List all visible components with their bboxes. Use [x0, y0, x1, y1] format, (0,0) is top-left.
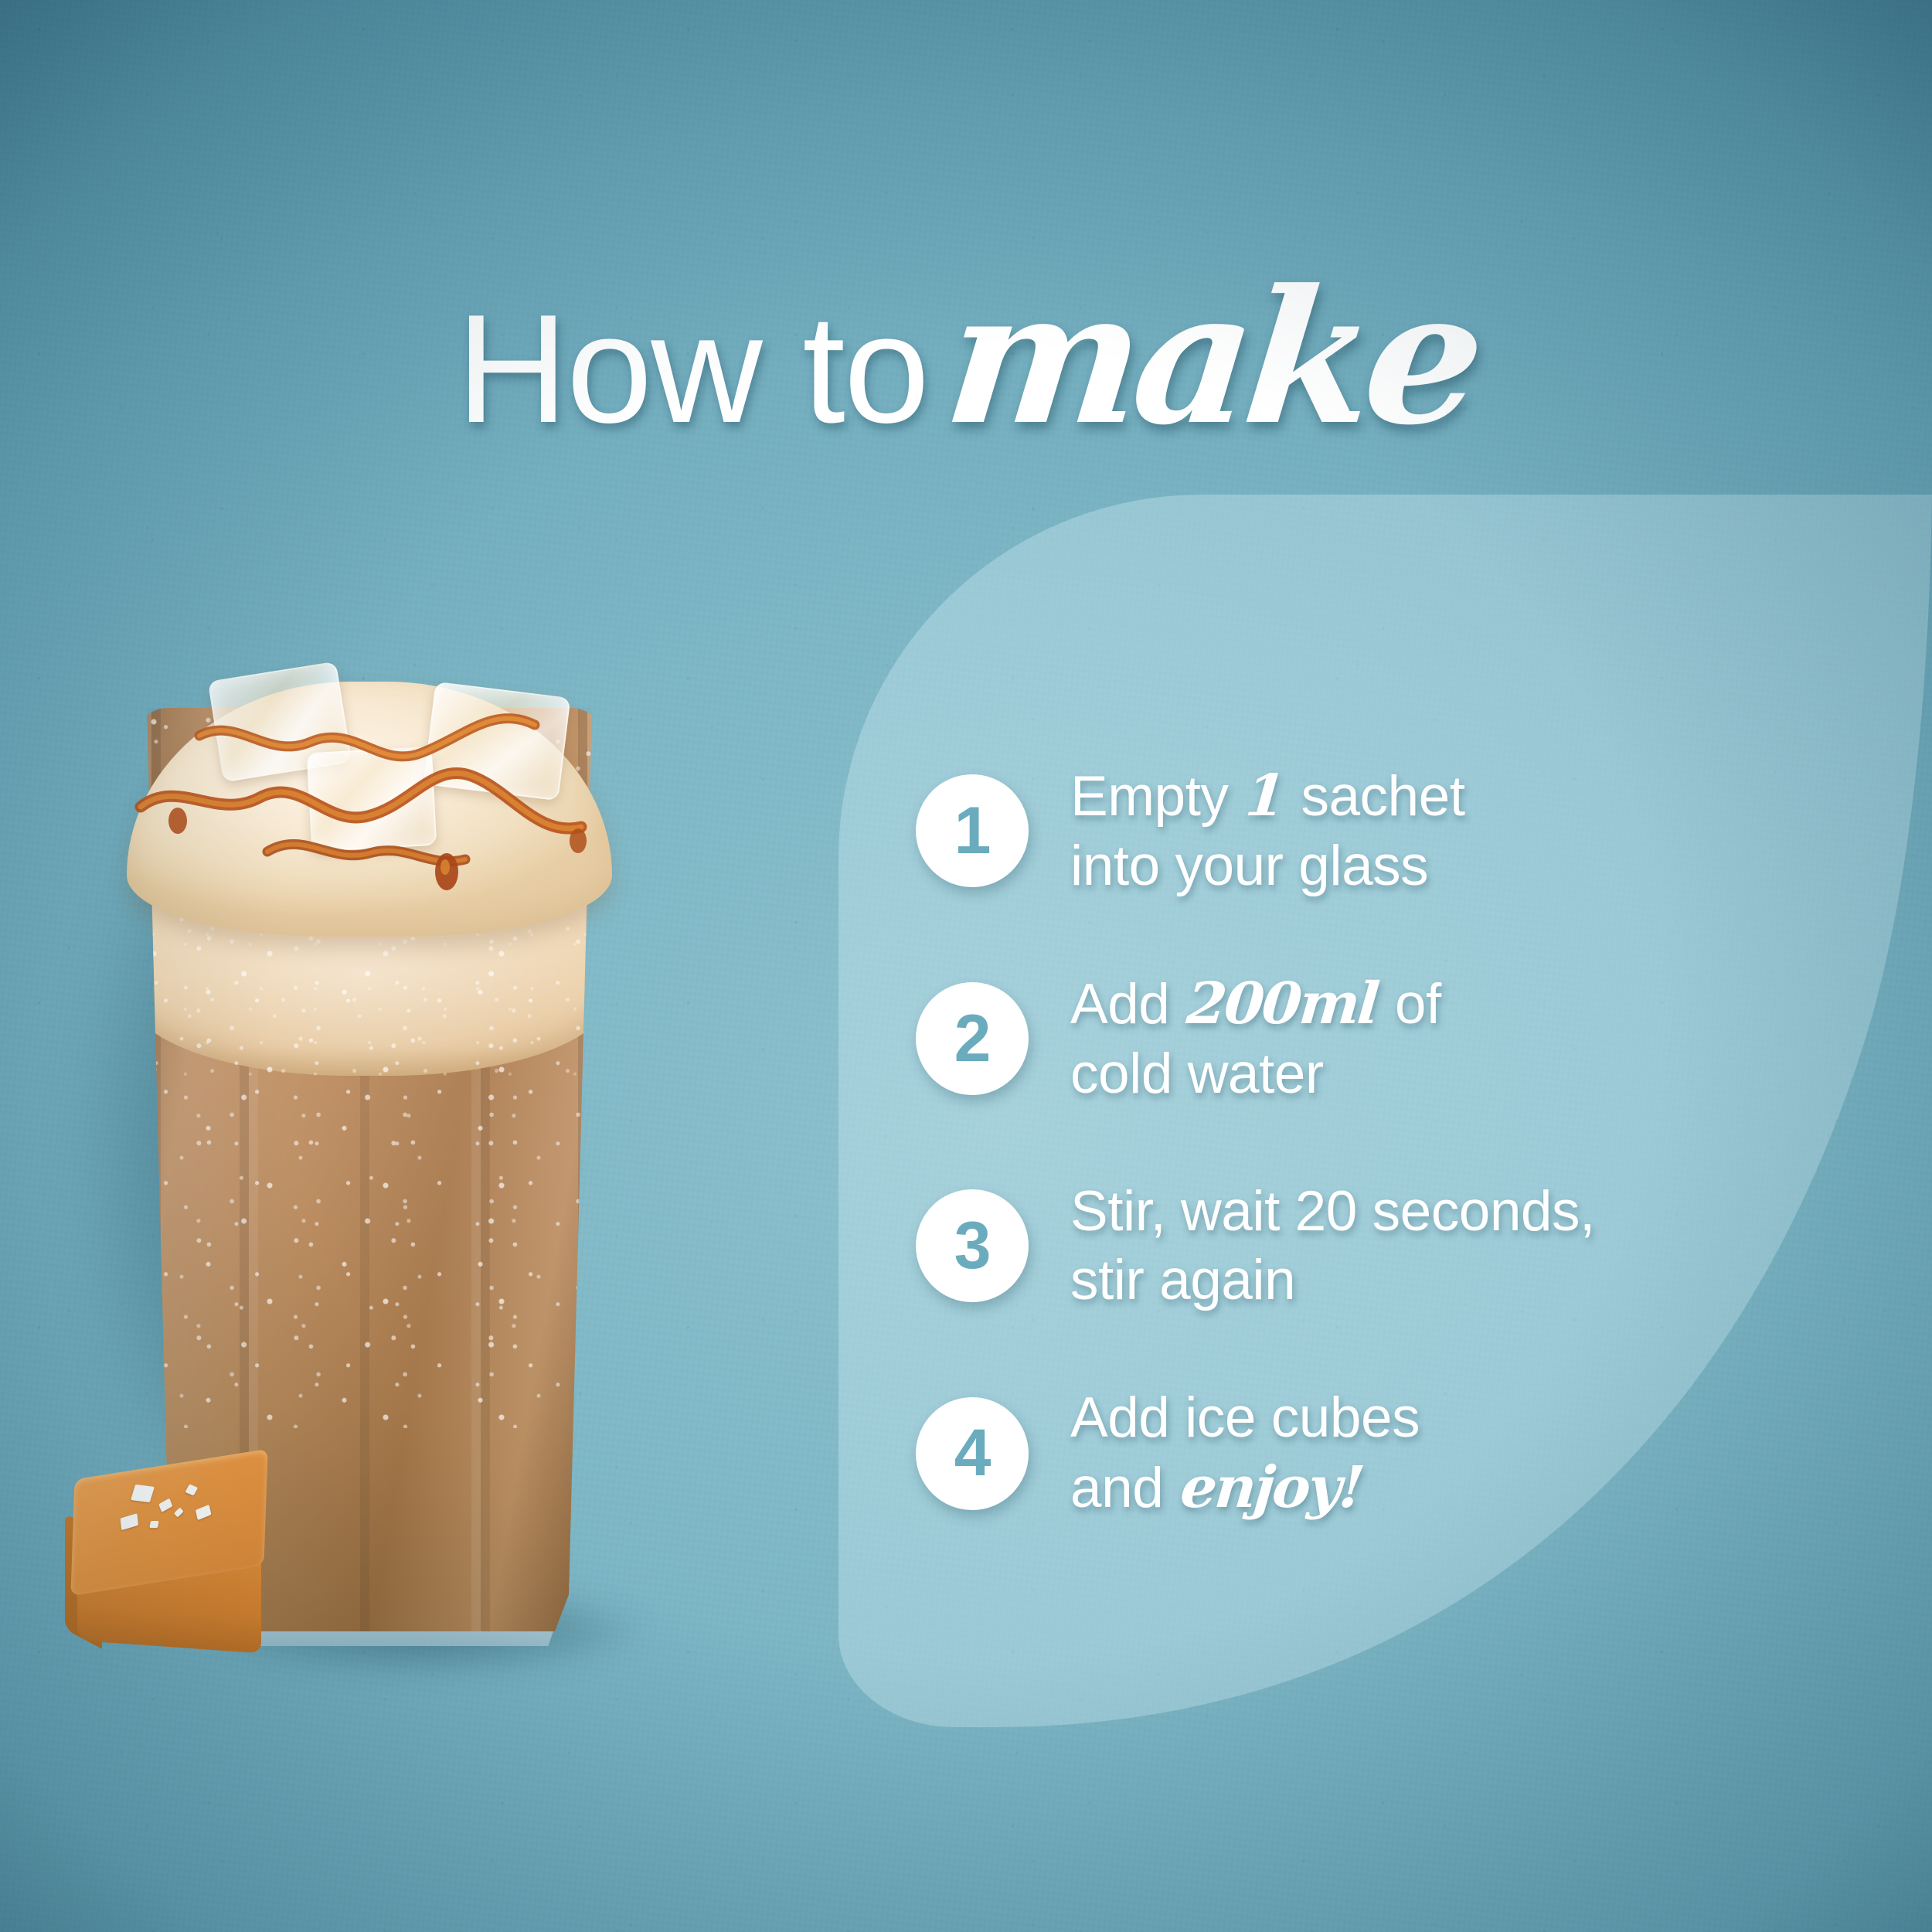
- salt-flake-icon: [149, 1521, 159, 1528]
- instruction-step: 1 Empty 1 sachet into your glass: [916, 761, 1812, 901]
- instruction-step: 3 Stir, wait 20 seconds, stir again: [916, 1177, 1812, 1316]
- step-number-badge: 3: [916, 1189, 1029, 1302]
- instruction-steps-list: 1 Empty 1 sachet into your glass 2 Add 2…: [916, 761, 1812, 1523]
- step-number-badge: 4: [916, 1397, 1029, 1510]
- step-line-1-post: sachet: [1286, 765, 1465, 828]
- step-text: Empty 1 sachet into your glass: [1070, 761, 1465, 901]
- salt-flake-icon: [131, 1485, 155, 1502]
- step-text: Add ice cubes and enjoy!: [1070, 1383, 1420, 1523]
- page-title-script: make: [939, 267, 1485, 451]
- step-line-1-post: of: [1379, 973, 1441, 1036]
- step-line-1: Add ice cubes: [1070, 1383, 1420, 1453]
- step-emphasis: enjoy!: [1175, 1453, 1367, 1523]
- salted-caramel-cube: [65, 1464, 289, 1662]
- product-photo: [77, 634, 850, 1839]
- salt-flake-icon: [174, 1508, 184, 1518]
- step-number-badge: 1: [916, 774, 1029, 887]
- instruction-step: 4 Add ice cubes and enjoy!: [916, 1383, 1812, 1523]
- page-title: How tomake: [0, 267, 1932, 451]
- step-line-2: and enjoy!: [1070, 1453, 1420, 1523]
- step-text: Stir, wait 20 seconds, stir again: [1070, 1177, 1595, 1316]
- step-number-badge: 2: [916, 982, 1029, 1095]
- step-line-1: Empty 1 sachet: [1070, 761, 1465, 832]
- page-title-plain: How to: [457, 283, 928, 455]
- step-emphasis: 1: [1240, 761, 1288, 832]
- poster-canvas: How tomake: [0, 0, 1932, 1932]
- step-line-1-pre: Add: [1070, 973, 1185, 1036]
- step-line-1: Add 200ml of: [1070, 969, 1441, 1039]
- step-line-2-pre: and: [1070, 1457, 1179, 1519]
- step-line-2: stir again: [1070, 1246, 1595, 1315]
- salt-flake-icon: [196, 1505, 212, 1520]
- salt-flake-icon: [158, 1498, 172, 1512]
- step-line-2: into your glass: [1070, 832, 1465, 901]
- step-text: Add 200ml of cold water: [1070, 969, 1441, 1109]
- instruction-step: 2 Add 200ml of cold water: [916, 969, 1812, 1109]
- step-line-2: cold water: [1070, 1039, 1441, 1109]
- salt-flake-icon: [185, 1484, 198, 1495]
- salt-flake-icon: [121, 1513, 139, 1530]
- step-line-1-pre: Empty: [1070, 765, 1243, 828]
- step-line-1: Stir, wait 20 seconds,: [1070, 1177, 1595, 1247]
- step-emphasis: 200ml: [1182, 969, 1383, 1039]
- caramel-drizzle: [108, 662, 634, 955]
